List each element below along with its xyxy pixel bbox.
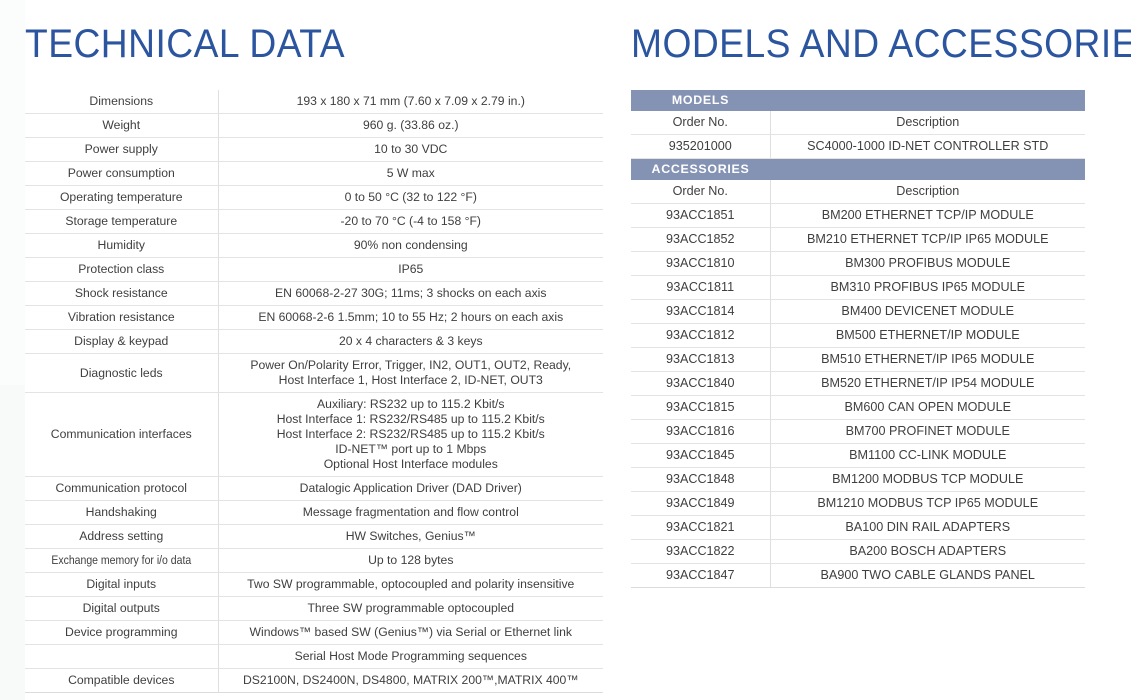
- table-row: Compatible devicesDS2100N, DS2400N, DS48…: [25, 669, 603, 693]
- table-row: Communication protocolDatalogic Applicat…: [25, 477, 603, 501]
- table-row: Weight960 g. (33.86 oz.): [25, 114, 603, 138]
- spec-value: 0 to 50 °C (32 to 122 °F): [218, 186, 603, 210]
- spec-value: 90% non condensing: [218, 234, 603, 258]
- order-number: 93ACC1812: [631, 324, 770, 348]
- spec-value: 960 g. (33.86 oz.): [218, 114, 603, 138]
- item-description: BM1210 MODBUS TCP IP65 MODULE: [770, 492, 1085, 516]
- spec-label: [25, 645, 218, 669]
- spec-label: Display & keypad: [25, 330, 218, 354]
- spec-value: DS2100N, DS2400N, DS4800, MATRIX 200™,MA…: [218, 669, 603, 693]
- spec-value: Two SW programmable, optocoupled and pol…: [218, 573, 603, 597]
- item-description: BA100 DIN RAIL ADAPTERS: [770, 516, 1085, 540]
- accessories-section-bar: ACCESSORIES: [631, 159, 1085, 181]
- item-description: BM310 PROFIBUS IP65 MODULE: [770, 276, 1085, 300]
- order-number: 93ACC1813: [631, 348, 770, 372]
- table-row: Exchange memory for i/o dataUp to 128 by…: [25, 549, 603, 573]
- item-description: BM1200 MODBUS TCP MODULE: [770, 468, 1085, 492]
- spec-label: Shock resistance: [25, 282, 218, 306]
- table-column-header-row: Order No.Description: [631, 180, 1085, 204]
- spec-label: Power supply: [25, 138, 218, 162]
- table-row: 93ACC1815BM600 CAN OPEN MODULE: [631, 396, 1085, 420]
- spec-value: 5 W max: [218, 162, 603, 186]
- table-row: Display & keypad20 x 4 characters & 3 ke…: [25, 330, 603, 354]
- spec-label: Storage temperature: [25, 210, 218, 234]
- spec-value: Up to 128 bytes: [218, 549, 603, 573]
- column-header-order-no: Order No.: [631, 180, 770, 204]
- table-row: 93ACC1812BM500 ETHERNET/IP MODULE: [631, 324, 1085, 348]
- spec-value: Message fragmentation and flow control: [218, 501, 603, 525]
- order-number: 93ACC1822: [631, 540, 770, 564]
- table-row: Vibration resistanceEN 60068-2-6 1.5mm; …: [25, 306, 603, 330]
- spec-label: Compatible devices: [25, 669, 218, 693]
- spec-label: Digital inputs: [25, 573, 218, 597]
- order-number: 93ACC1811: [631, 276, 770, 300]
- order-number: 93ACC1816: [631, 420, 770, 444]
- models-accessories-title: MODELS AND ACCESSORIES: [631, 22, 1096, 66]
- item-description: BM200 ETHERNET TCP/IP MODULE: [770, 204, 1085, 228]
- spec-value: Auxiliary: RS232 up to 115.2 Kbit/s Host…: [218, 393, 603, 477]
- spec-value: HW Switches, Genius™: [218, 525, 603, 549]
- spec-value: IP65: [218, 258, 603, 282]
- order-number: 93ACC1840: [631, 372, 770, 396]
- item-description: BM510 ETHERNET/IP IP65 MODULE: [770, 348, 1085, 372]
- table-row: 93ACC1813BM510 ETHERNET/IP IP65 MODULE: [631, 348, 1085, 372]
- spec-label: Protection class: [25, 258, 218, 282]
- spec-label: Address setting: [25, 525, 218, 549]
- spec-value: -20 to 70 °C (-4 to 158 °F): [218, 210, 603, 234]
- spec-label: Device programming: [25, 621, 218, 645]
- item-description: BM1100 CC-LINK MODULE: [770, 444, 1085, 468]
- order-number: 93ACC1845: [631, 444, 770, 468]
- table-row: 93ACC1811BM310 PROFIBUS IP65 MODULE: [631, 276, 1085, 300]
- order-number: 93ACC1814: [631, 300, 770, 324]
- table-row: Storage temperature-20 to 70 °C (-4 to 1…: [25, 210, 603, 234]
- item-description: BM500 ETHERNET/IP MODULE: [770, 324, 1085, 348]
- item-description: BM400 DEVICENET MODULE: [770, 300, 1085, 324]
- table-row: 93ACC1816BM700 PROFINET MODULE: [631, 420, 1085, 444]
- spec-value: Three SW programmable optocoupled: [218, 597, 603, 621]
- order-number: 93ACC1848: [631, 468, 770, 492]
- spec-value: Serial Host Mode Programming sequences: [218, 645, 603, 669]
- technical-data-column: TECHNICAL DATA Dimensions193 x 180 x 71 …: [0, 0, 620, 700]
- item-description: BA900 TWO CABLE GLANDS PANEL: [770, 564, 1085, 588]
- table-row: Address settingHW Switches, Genius™: [25, 525, 603, 549]
- table-row: Digital outputsThree SW programmable opt…: [25, 597, 603, 621]
- spec-label: Operating temperature: [25, 186, 218, 210]
- table-row: HandshakingMessage fragmentation and flo…: [25, 501, 603, 525]
- spec-value: 10 to 30 VDC: [218, 138, 603, 162]
- order-number: 93ACC1821: [631, 516, 770, 540]
- table-row: 93ACC1848BM1200 MODBUS TCP MODULE: [631, 468, 1085, 492]
- table-row: Digital inputsTwo SW programmable, optoc…: [25, 573, 603, 597]
- order-number: 935201000: [631, 135, 770, 159]
- table-row: 93ACC1849BM1210 MODBUS TCP IP65 MODULE: [631, 492, 1085, 516]
- spec-label: Dimensions: [25, 90, 218, 114]
- order-number: 93ACC1852: [631, 228, 770, 252]
- spec-label: Digital outputs: [25, 597, 218, 621]
- table-row: Shock resistanceEN 60068-2-27 30G; 11ms;…: [25, 282, 603, 306]
- table-row: 93ACC1847BA900 TWO CABLE GLANDS PANEL: [631, 564, 1085, 588]
- column-header-description: Description: [770, 180, 1085, 204]
- order-number: 93ACC1815: [631, 396, 770, 420]
- spec-value: 20 x 4 characters & 3 keys: [218, 330, 603, 354]
- table-row: Power supply10 to 30 VDC: [25, 138, 603, 162]
- table-row: Communication interfacesAuxiliary: RS232…: [25, 393, 603, 477]
- datasheet-page: TECHNICAL DATA Dimensions193 x 180 x 71 …: [0, 0, 1131, 700]
- table-row: 93ACC1840BM520 ETHERNET/IP IP54 MODULE: [631, 372, 1085, 396]
- models-accessories-column: MODELS AND ACCESSORIES MODELS Order No.D…: [620, 0, 1131, 700]
- item-description: SC4000-1000 ID-NET CONTROLLER STD: [770, 135, 1085, 159]
- spec-label: Power consumption: [25, 162, 218, 186]
- table-row: Humidity90% non condensing: [25, 234, 603, 258]
- order-number: 93ACC1851: [631, 204, 770, 228]
- spec-label: Communication protocol: [25, 477, 218, 501]
- spec-label: Vibration resistance: [25, 306, 218, 330]
- item-description: BM300 PROFIBUS MODULE: [770, 252, 1085, 276]
- order-number: 93ACC1810: [631, 252, 770, 276]
- spec-label: Exchange memory for i/o data: [25, 549, 218, 573]
- table-row: Device programmingWindows™ based SW (Gen…: [25, 621, 603, 645]
- item-description: BA200 BOSCH ADAPTERS: [770, 540, 1085, 564]
- spec-label: Diagnostic leds: [25, 354, 218, 393]
- spec-label: Communication interfaces: [25, 393, 218, 477]
- table-row: 93ACC1852BM210 ETHERNET TCP/IP IP65 MODU…: [631, 228, 1085, 252]
- item-description: BM600 CAN OPEN MODULE: [770, 396, 1085, 420]
- spec-value: Power On/Polarity Error, Trigger, IN2, O…: [218, 354, 603, 393]
- technical-data-title: TECHNICAL DATA: [25, 22, 578, 66]
- spec-label: Handshaking: [25, 501, 218, 525]
- spec-value: EN 60068-2-6 1.5mm; 10 to 55 Hz; 2 hours…: [218, 306, 603, 330]
- models-accessories-table: MODELS Order No.Description935201000SC40…: [631, 90, 1085, 588]
- accessories-section-bar-label: ACCESSORIES: [631, 159, 770, 181]
- technical-data-table: Dimensions193 x 180 x 71 mm (7.60 x 7.09…: [25, 90, 603, 693]
- spec-label: Weight: [25, 114, 218, 138]
- spec-value: EN 60068-2-27 30G; 11ms; 3 shocks on eac…: [218, 282, 603, 306]
- table-row: 93ACC1851BM200 ETHERNET TCP/IP MODULE: [631, 204, 1085, 228]
- table-column-header-row: Order No.Description: [631, 111, 1085, 135]
- order-number: 93ACC1849: [631, 492, 770, 516]
- table-row: Dimensions193 x 180 x 71 mm (7.60 x 7.09…: [25, 90, 603, 114]
- spec-value: Windows™ based SW (Genius™) via Serial o…: [218, 621, 603, 645]
- item-description: BM700 PROFINET MODULE: [770, 420, 1085, 444]
- table-row: Operating temperature0 to 50 °C (32 to 1…: [25, 186, 603, 210]
- item-description: BM520 ETHERNET/IP IP54 MODULE: [770, 372, 1085, 396]
- models-section-bar: MODELS: [631, 90, 1085, 111]
- column-header-order-no: Order No.: [631, 111, 770, 135]
- column-header-description: Description: [770, 111, 1085, 135]
- table-row: Protection classIP65: [25, 258, 603, 282]
- table-row: 93ACC1822BA200 BOSCH ADAPTERS: [631, 540, 1085, 564]
- spec-label: Humidity: [25, 234, 218, 258]
- order-number: 93ACC1847: [631, 564, 770, 588]
- accessories-section-bar-filler: [770, 159, 1085, 181]
- table-row: 93ACC1821BA100 DIN RAIL ADAPTERS: [631, 516, 1085, 540]
- spec-value: 193 x 180 x 71 mm (7.60 x 7.09 x 2.79 in…: [218, 90, 603, 114]
- spec-value: Datalogic Application Driver (DAD Driver…: [218, 477, 603, 501]
- table-row: 935201000SC4000-1000 ID-NET CONTROLLER S…: [631, 135, 1085, 159]
- table-row: Diagnostic ledsPower On/Polarity Error, …: [25, 354, 603, 393]
- table-row: 93ACC1814BM400 DEVICENET MODULE: [631, 300, 1085, 324]
- item-description: BM210 ETHERNET TCP/IP IP65 MODULE: [770, 228, 1085, 252]
- table-row: 93ACC1810BM300 PROFIBUS MODULE: [631, 252, 1085, 276]
- table-row: Serial Host Mode Programming sequences: [25, 645, 603, 669]
- models-section-bar-filler: [770, 90, 1085, 111]
- table-row: Power consumption5 W max: [25, 162, 603, 186]
- spec-label-text: Exchange memory for i/o data: [51, 553, 191, 568]
- table-row: 93ACC1845BM1100 CC-LINK MODULE: [631, 444, 1085, 468]
- models-section-bar-label: MODELS: [631, 90, 770, 111]
